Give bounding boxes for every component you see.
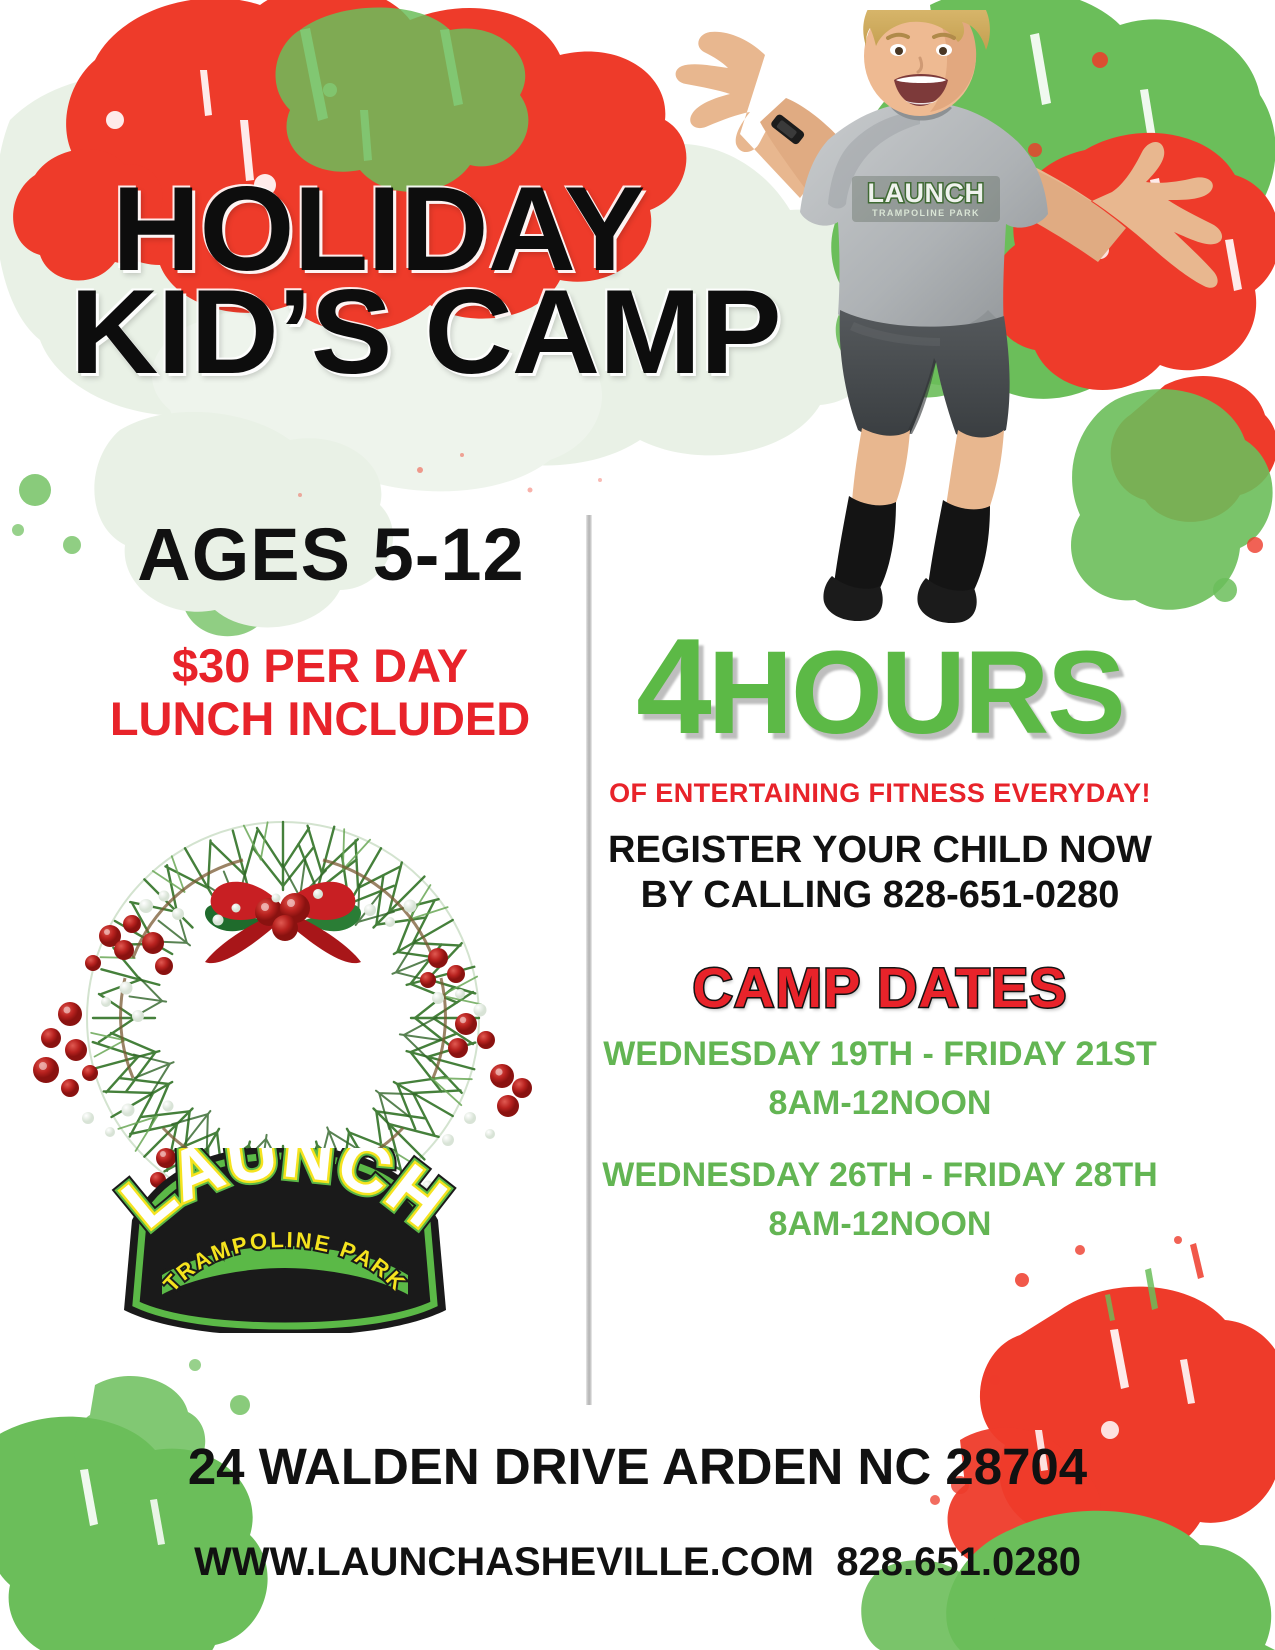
camp-date-range-2: WEDNESDAY 26TH - FRIDAY 28TH [582,1151,1178,1200]
register-block: REGISTER YOUR CHILD NOW BY CALLING 828-6… [600,828,1160,918]
register-line-2: BY CALLING 828-651-0280 [600,873,1160,918]
launch-trampoline-park-logo: LAUNCH LAUNCH LAUNCH TRAMPOLINE PARK [110,1148,460,1333]
vertical-divider [586,515,592,1405]
hours-word: HOURS [708,627,1124,759]
hours-number: 4 [636,610,708,762]
footer-phone[interactable]: 828.651.0280 [836,1540,1081,1584]
footer-address: 24 WALDEN DRIVE ARDEN NC 28704 [0,1437,1275,1496]
hours-subtitle: OF ENTERTAINING FITNESS EVERYDAY! [600,778,1160,809]
lunch-included: LUNCH INCLUDED [70,693,570,746]
camp-date-range-1: WEDNESDAY 19TH - FRIDAY 21ST [582,1030,1178,1079]
price-per-day: $30 PER DAY [70,640,570,693]
price-block: $30 PER DAY LUNCH INCLUDED [70,640,570,745]
camp-dates-list: WEDNESDAY 19TH - FRIDAY 21ST 8AM-12NOON … [582,1030,1178,1249]
footer-web-phone: WWW.LAUNCHASHEVILLE.COM 828.651.0280 [0,1540,1275,1585]
camp-date-time-1: 8AM-12NOON [582,1079,1178,1128]
hours-headline: 4HOURS [600,618,1160,754]
flyer-canvas: HOLIDAY KID’S CAMP [0,0,1275,1650]
shirt-logo-tagline: TRAMPOLINE PARK [872,208,980,218]
footer-website[interactable]: WWW.LAUNCHASHEVILLE.COM [194,1540,814,1584]
jumping-boy-photo: LAUNCH TRAMPOLINE PARK [590,10,1230,630]
camp-dates-heading: CAMP DATES [600,955,1160,1020]
register-line-1: REGISTER YOUR CHILD NOW [600,828,1160,873]
camp-date-time-2: 8AM-12NOON [582,1200,1178,1249]
shirt-logo-word: LAUNCH [868,178,985,208]
ages-label: AGES 5-12 [96,518,566,592]
